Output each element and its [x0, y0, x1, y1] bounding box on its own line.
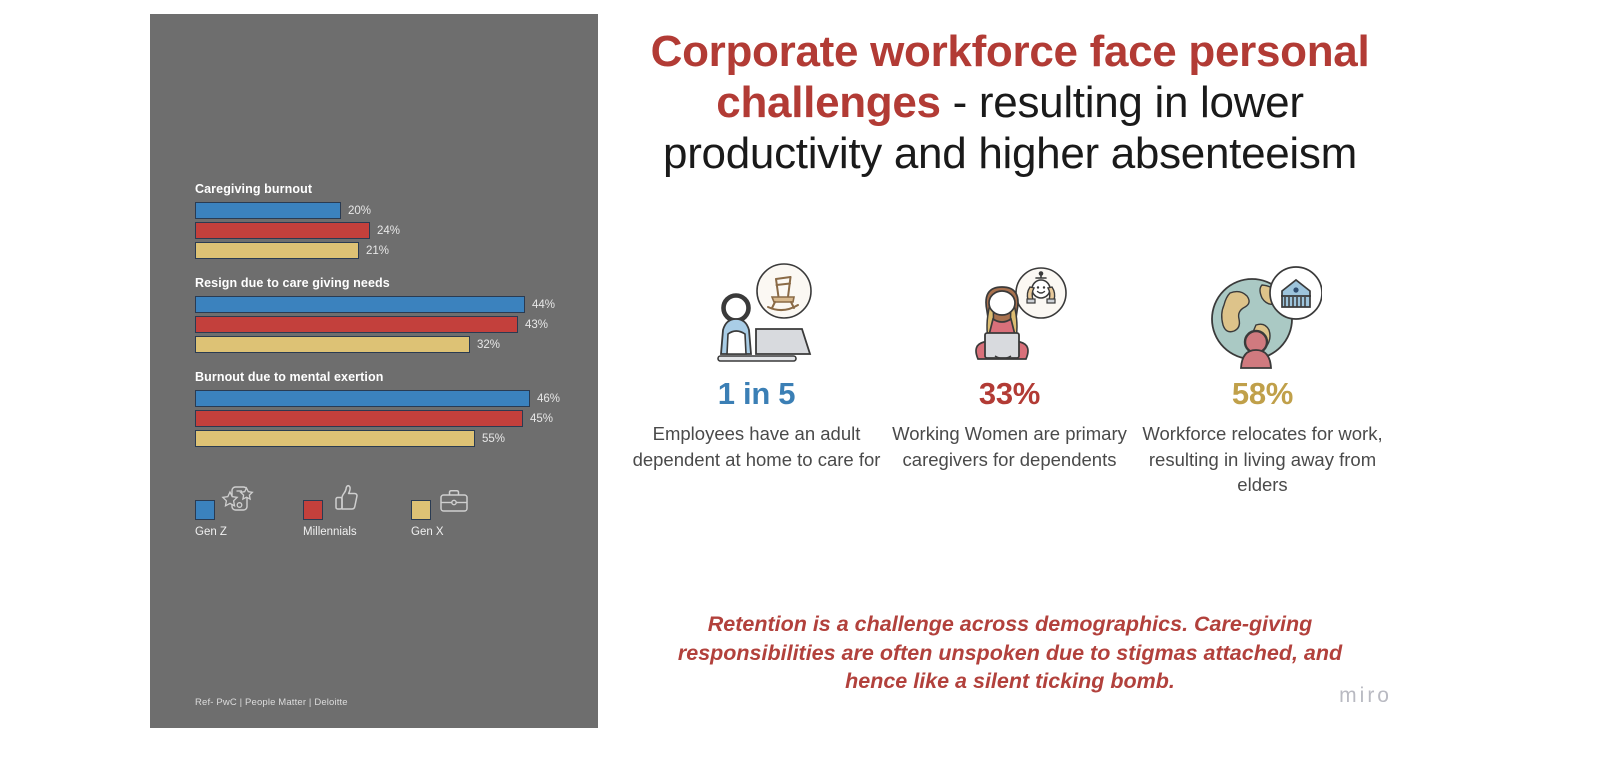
bar-value-label: 21% — [366, 245, 389, 257]
phone-stars-icon — [221, 482, 255, 521]
bar-group: Burnout due to mental exertion 46% 45% 5… — [195, 370, 575, 448]
bar-group-title: Burnout due to mental exertion — [195, 370, 575, 384]
bar-group: Caregiving burnout 20% 24% 21% — [195, 182, 575, 260]
stat-card-1: 1 in 5 Employees have an adult dependent… — [630, 262, 883, 498]
bar-millennials — [195, 222, 370, 239]
bar-row: 43% — [195, 315, 575, 334]
bar-value-label: 43% — [525, 319, 548, 331]
stat-description-2: Working Women are primary caregivers for… — [883, 421, 1136, 472]
stat-value-3: 58% — [1136, 376, 1389, 412]
bar-genz — [195, 390, 530, 407]
legend-swatch-genx — [411, 500, 431, 520]
bar-millennials — [195, 410, 523, 427]
stat-value-2: 33% — [883, 376, 1136, 412]
footnote-callout: Retention is a challenge across demograp… — [660, 610, 1360, 696]
bar-genz — [195, 202, 341, 219]
bar-row: 32% — [195, 335, 575, 354]
bar-genx — [195, 336, 470, 353]
bar-value-label: 44% — [532, 299, 555, 311]
bar-group: Resign due to care giving needs 44% 43% … — [195, 276, 575, 354]
bar-row: 55% — [195, 429, 575, 448]
bar-group-title: Caregiving burnout — [195, 182, 575, 196]
legend-swatch-genz — [195, 500, 215, 520]
bar-genx — [195, 430, 475, 447]
stat-description-1: Employees have an adult dependent at hom… — [630, 421, 883, 472]
bar-row: 45% — [195, 409, 575, 428]
bar-row: 46% — [195, 389, 575, 408]
legend-item-genz: Gen Z — [195, 484, 303, 538]
miro-watermark: miro — [1339, 684, 1392, 708]
stat-card-3: 58% Workforce relocates for work, result… — [1136, 262, 1389, 498]
bar-value-label: 24% — [377, 225, 400, 237]
legend-swatch-millennials — [303, 500, 323, 520]
bar-value-label: 45% — [530, 413, 553, 425]
thumbs-up-icon — [329, 482, 361, 521]
bar-row: 21% — [195, 241, 575, 260]
page-title: Corporate workforce face personal challe… — [630, 26, 1390, 179]
legend-item-millennials: Millennials — [303, 484, 411, 538]
person-laptop-rocking-chair-icon — [630, 262, 883, 370]
bar-genz — [195, 296, 525, 313]
stat-card-2: 33% Working Women are primary caregivers… — [883, 262, 1136, 498]
bar-group-title: Resign due to care giving needs — [195, 276, 575, 290]
bar-genx — [195, 242, 359, 259]
globe-person-house-icon — [1136, 262, 1389, 370]
legend-label-genx: Gen X — [411, 526, 519, 538]
bar-value-label: 20% — [348, 205, 371, 217]
legend-label-genz: Gen Z — [195, 526, 303, 538]
stat-value-1: 1 in 5 — [630, 376, 883, 412]
bar-millennials — [195, 316, 518, 333]
chart-panel: Caregiving burnout 20% 24% 21% Resign du… — [150, 14, 598, 728]
bar-chart: Caregiving burnout 20% 24% 21% Resign du… — [195, 182, 575, 464]
stats-row: 1 in 5 Employees have an adult dependent… — [630, 262, 1390, 498]
woman-laptop-baby-icon — [883, 262, 1136, 370]
briefcase-icon — [437, 486, 471, 521]
chart-legend: Gen Z Millennials — [195, 484, 575, 538]
bar-value-label: 32% — [477, 339, 500, 351]
bar-row: 44% — [195, 295, 575, 314]
legend-label-millennials: Millennials — [303, 526, 411, 538]
bar-value-label: 55% — [482, 433, 505, 445]
bar-row: 24% — [195, 221, 575, 240]
bar-value-label: 46% — [537, 393, 560, 405]
bar-row: 20% — [195, 201, 575, 220]
stat-description-3: Workforce relocates for work, resulting … — [1136, 421, 1389, 498]
legend-item-genx: Gen X — [411, 484, 519, 538]
chart-source-note: Ref- PwC | People Matter | Deloitte — [195, 697, 348, 708]
